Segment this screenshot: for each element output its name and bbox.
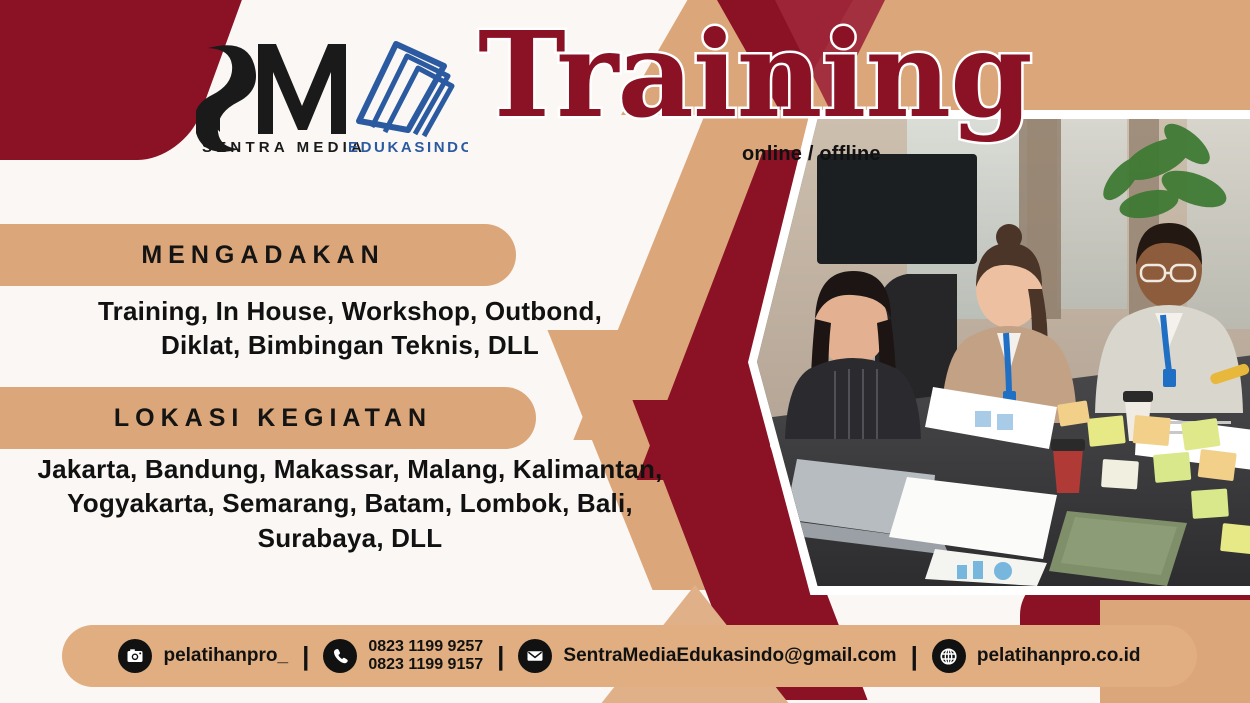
website-contact[interactable]: pelatihanpro.co.id xyxy=(932,639,1141,673)
locations-line-3: Surabaya, DLL xyxy=(0,521,700,555)
email-address: SentraMediaEdukasindo@gmail.com xyxy=(563,645,896,667)
training-promo-poster: SENTRA MEDIA EDUKASINDO Training online … xyxy=(0,0,1250,703)
pill-lokasi-kegiatan: LOKASI KEGIATAN xyxy=(0,387,536,449)
pill-mengadakan: MENGADAKAN xyxy=(0,224,516,286)
instagram-contact[interactable]: pelatihanpro_ xyxy=(118,639,288,673)
contact-footer-bar: pelatihanpro_ | 0823 1199 9257 0823 1199… xyxy=(62,625,1197,687)
locations-text: Jakarta, Bandung, Makassar, Malang, Kali… xyxy=(0,452,700,555)
footer-separator-2: | xyxy=(497,643,504,669)
meeting-photo xyxy=(757,119,1250,586)
globe-icon xyxy=(932,639,966,673)
page-title: Training xyxy=(478,16,1032,134)
phone-number-2: 0823 1199 9157 xyxy=(368,656,483,674)
company-logo: SENTRA MEDIA EDUKASINDO xyxy=(196,26,468,156)
locations-line-2: Yogyakarta, Semarang, Batam, Lombok, Bal… xyxy=(0,486,700,520)
phone-numbers: 0823 1199 9257 0823 1199 9157 xyxy=(368,638,483,674)
services-text: Training, In House, Workshop, Outbond, D… xyxy=(20,294,680,363)
footer-separator-3: | xyxy=(911,643,918,669)
website-url: pelatihanpro.co.id xyxy=(977,645,1141,667)
title-subtitle: online / offline xyxy=(742,143,881,166)
pill-mengadakan-label: MENGADAKAN xyxy=(141,241,384,270)
footer-separator-1: | xyxy=(302,643,309,669)
phone-icon xyxy=(323,639,357,673)
pill-lokasi-label: LOKASI KEGIATAN xyxy=(114,404,432,433)
email-contact[interactable]: SentraMediaEdukasindo@gmail.com xyxy=(518,639,896,673)
logo-wordmark-primary: SENTRA MEDIA xyxy=(202,139,366,156)
email-icon xyxy=(518,639,552,673)
phone-number-1: 0823 1199 9257 xyxy=(368,638,483,656)
phone-contact[interactable]: 0823 1199 9257 0823 1199 9157 xyxy=(323,638,483,674)
instagram-handle: pelatihanpro_ xyxy=(163,645,288,667)
services-line-2: Diklat, Bimbingan Teknis, DLL xyxy=(20,328,680,362)
locations-line-1: Jakarta, Bandung, Makassar, Malang, Kali… xyxy=(0,452,700,486)
services-line-1: Training, In House, Workshop, Outbond, xyxy=(20,294,680,328)
instagram-icon xyxy=(118,639,152,673)
logo-wordmark-secondary: EDUKASINDO xyxy=(348,139,468,156)
